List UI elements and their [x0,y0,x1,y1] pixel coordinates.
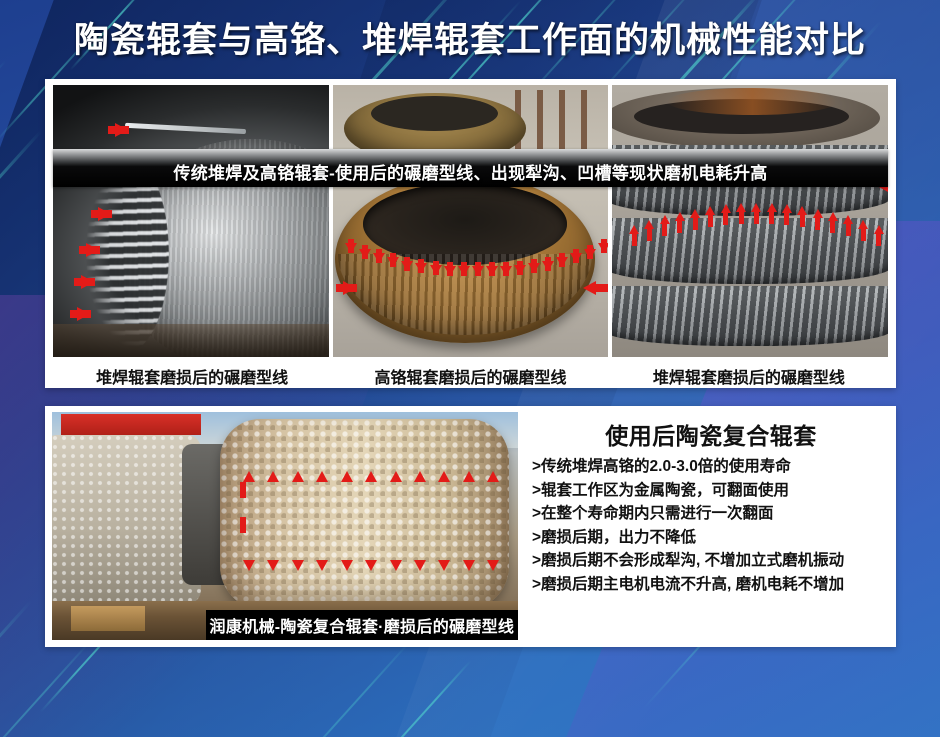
red-arrow-up-icon [292,471,304,482]
red-arrow-up-icon [390,471,402,482]
red-arrow-down-icon [542,261,554,271]
red-arrow-down-icon [458,266,470,276]
red-arrow-left-icon [583,281,596,295]
red-arrow-down-icon [267,560,279,571]
red-arrow-up-icon [751,203,761,212]
bottom-product-panel: 润康机械-陶瓷复合辊套·磨损后的碾磨型线 使用后陶瓷复合辊套 >传统堆焊高铬的2… [45,406,896,647]
red-arrow-up-icon [267,471,279,482]
red-arrow-up-icon [644,220,654,229]
red-arrow-up-icon [365,471,377,482]
red-arrow-down-icon [401,261,413,271]
red-arrow-down-icon [316,560,328,571]
metal-shard-shape [125,123,246,134]
red-arrow-down-icon [373,253,385,263]
top-banner-text: 传统堆焊及高铬辊套-使用后的碾磨型线、出现犁沟、凹槽等现状磨机电耗升高 [173,165,767,187]
red-arrow-up-icon [797,206,807,215]
red-arrow-down-icon [387,257,399,267]
red-arrow-up-icon [705,206,715,215]
background-ring-bore [371,96,498,131]
rust-stain [667,88,838,115]
red-arrow-down-icon [341,560,353,571]
red-arrow-up-icon [767,203,777,212]
red-arrow-down-icon [414,560,426,571]
benefit-item: >磨损后期，出力不降低 [532,526,890,550]
red-arrow-down-icon [365,560,377,571]
red-arrow-up-icon [438,471,450,482]
bottom-photo-caption-text: 润康机械-陶瓷复合辊套·磨损后的碾磨型线 [210,613,515,637]
benefit-item: >磨损后期不会形成犁沟, 不增加立式磨机振动 [532,549,890,573]
red-arrow-up-icon [675,212,685,221]
red-arrow-down-icon [556,257,568,267]
slide-title: 陶瓷辊套与高铬、堆焊辊套工作面的机械性能对比 [0,12,940,63]
red-arrow-up-icon [341,471,353,482]
ring-band-3 [612,286,888,346]
red-arrow-down-icon [486,266,498,276]
red-arrow-down-icon [570,253,582,263]
red-arrow-up-icon [629,225,639,234]
photo-caption-1: 堆焊辊套磨损后的碾磨型线 [53,364,331,388]
red-arrow-down-icon [444,266,456,276]
red-arrow-up-icon [463,471,475,482]
red-arrow-down-icon [292,560,304,571]
photo-high-chrome-rings-worn [333,85,609,357]
red-arrow-down-icon [438,560,450,571]
red-arrow-up-icon [316,471,328,482]
bottom-photo-caption-bar: 润康机械-陶瓷复合辊套·磨损后的碾磨型线 [206,610,518,640]
red-arrow-up-icon [782,204,792,213]
red-arrow-down-icon [415,263,427,273]
red-arrow-up-icon [690,209,700,218]
red-arrow-down-icon [472,266,484,276]
red-arrow-down-icon [514,265,526,275]
red-arrow-down-icon [345,243,357,253]
foreground-roller-shape [220,419,509,611]
red-arrow-right-icon [98,207,111,221]
red-arrow-up-icon [736,203,746,212]
benefit-item: >磨损后期主电机电流不升高, 磨机电耗不增加 [532,573,890,597]
photo-welded-stacked-rings-worn [612,85,888,357]
red-arrow-up-icon [813,209,823,218]
red-arrow-down-icon [598,243,608,253]
red-arrow-up-icon [660,215,670,224]
red-arrow-right-icon [115,123,128,137]
product-benefits-heading: 使用后陶瓷复合辊套 [532,414,890,455]
red-arrow-right-icon [343,281,356,295]
red-wall-shape [61,414,201,435]
wooden-plank [71,606,146,631]
red-arrow-up-icon [487,471,499,482]
photo-ceramic-composite-roller: 润康机械-陶瓷复合辊套·磨损后的碾磨型线 [52,412,518,640]
red-arrow-up-row [243,471,499,482]
background-roller-shape [52,435,201,604]
benefit-item: >在整个寿命期内只需进行一次翻面 [532,502,890,526]
red-arrow-down-icon [463,560,475,571]
photo-caption-3: 堆焊辊套磨损后的碾磨型线 [610,364,888,388]
photo-caption-2: 高铬辊套磨损后的碾磨型线 [331,364,609,388]
red-arrow-up-icon [843,215,853,224]
red-arrow-down-icon [390,560,402,571]
red-arrow-down-icon [584,249,596,259]
photo-welded-roller-worn [53,85,329,357]
top-photo-row [53,85,888,357]
red-arrow-up-icon [828,212,838,221]
foreground-ring-bore [363,183,567,265]
red-arrow-down-icon [243,560,255,571]
red-arrow-right-icon [86,243,99,257]
product-benefits-list: >传统堆焊高铬的2.0-3.0倍的使用寿命 >辊套工作区为金属陶瓷，可翻面使用 … [532,455,890,596]
floor-shadow [53,324,329,357]
top-caption-row: 堆焊辊套磨损后的碾磨型线 高铬辊套磨损后的碾磨型线 堆焊辊套磨损后的碾磨型线 [53,364,888,388]
red-arrow-down-icon [430,265,442,275]
red-arrow-right-icon [81,275,94,289]
red-arrow-down-row [243,544,499,571]
red-arrow-right-icon [77,307,90,321]
top-banner-strip: 传统堆焊及高铬辊套-使用后的碾磨型线、出现犁沟、凹槽等现状磨机电耗升高 [53,149,888,187]
red-arrow-down-icon [500,266,512,276]
red-arrow-up-icon [858,220,868,229]
product-benefits-block: 使用后陶瓷复合辊套 >传统堆焊高铬的2.0-3.0倍的使用寿命 >辊套工作区为金… [528,414,890,640]
red-arrow-down-icon [359,249,371,259]
top-comparison-panel: 传统堆焊及高铬辊套-使用后的碾磨型线、出现犁沟、凹槽等现状磨机电耗升高 堆焊辊套… [45,79,896,388]
benefit-item: >辊套工作区为金属陶瓷，可翻面使用 [532,479,890,503]
red-arrow-up-icon [874,225,884,234]
red-arrow-up-icon [721,204,731,213]
red-arrow-down-icon [487,560,499,571]
red-arrow-up-icon [243,471,255,482]
red-arrow-down-icon [528,263,540,273]
benefit-item: >传统堆焊高铬的2.0-3.0倍的使用寿命 [532,455,890,479]
red-arrow-up-icon [414,471,426,482]
